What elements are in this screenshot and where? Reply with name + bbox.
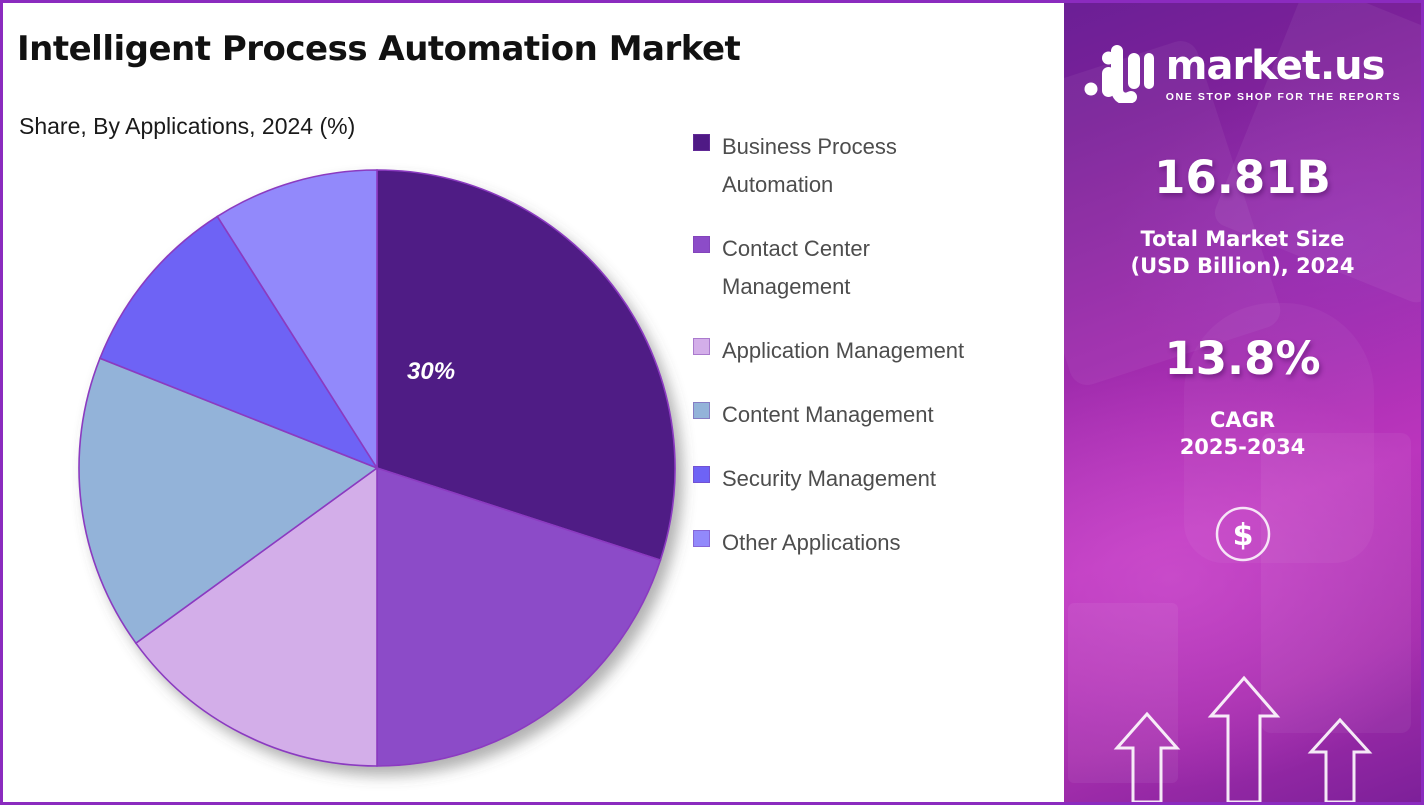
- infographic-root: Intelligent Process Automation Market Sh…: [0, 0, 1424, 805]
- pie-chart-svg: [77, 168, 677, 768]
- market-us-logo-icon: [1084, 45, 1154, 103]
- legend-item-label: Business Process Automation: [722, 128, 952, 204]
- brand-stats-content: market.us ONE STOP SHOP FOR THE REPORTS …: [1064, 3, 1421, 802]
- legend-swatch-icon: [693, 338, 710, 355]
- stat-caption-cagr-line1: CAGR: [1064, 407, 1421, 434]
- chart-legend: Business Process AutomationContact Cente…: [693, 128, 1053, 588]
- up-arrow-icon: [1305, 716, 1375, 802]
- legend-item-label: Content Management: [722, 396, 934, 434]
- legend-swatch-icon: [693, 134, 710, 151]
- brand-stats-panel: market.us ONE STOP SHOP FOR THE REPORTS …: [1064, 0, 1424, 805]
- legend-item[interactable]: Application Management: [693, 332, 1053, 370]
- legend-item-label: Contact Center Management: [722, 230, 952, 306]
- legend-item-label: Application Management: [722, 332, 964, 370]
- brand-name: market.us: [1166, 46, 1401, 86]
- legend-item[interactable]: Contact Center Management: [693, 230, 1053, 306]
- chart-panel: Intelligent Process Automation Market Sh…: [0, 0, 1064, 805]
- stat-caption-cagr-line2: 2025-2034: [1064, 434, 1421, 461]
- legend-swatch-icon: [693, 236, 710, 253]
- chart-subtitle: Share, By Applications, 2024 (%): [19, 113, 355, 140]
- legend-swatch-icon: [693, 402, 710, 419]
- growth-arrows: [1064, 682, 1421, 802]
- legend-item[interactable]: Business Process Automation: [693, 128, 1053, 204]
- stat-caption-cagr: CAGR 2025-2034: [1064, 407, 1421, 461]
- dollar-circle-icon: $: [1064, 505, 1421, 563]
- legend-item[interactable]: Security Management: [693, 460, 1053, 498]
- pie-chart: 30%: [77, 168, 677, 768]
- svg-text:$: $: [1232, 518, 1253, 553]
- legend-item-label: Other Applications: [722, 524, 901, 562]
- stat-caption-market-size-line2: (USD Billion), 2024: [1064, 253, 1421, 280]
- stat-caption-market-size: Total Market Size (USD Billion), 2024: [1064, 226, 1421, 280]
- pie-slice-group: [79, 170, 675, 766]
- brand-logo[interactable]: market.us ONE STOP SHOP FOR THE REPORTS: [1064, 45, 1421, 103]
- legend-swatch-icon: [693, 530, 710, 547]
- page-title: Intelligent Process Automation Market: [17, 29, 740, 69]
- up-arrow-icon: [1111, 710, 1183, 802]
- legend-swatch-icon: [693, 466, 710, 483]
- brand-tagline: ONE STOP SHOP FOR THE REPORTS: [1166, 91, 1401, 103]
- stat-value-market-size: 16.81B: [1064, 151, 1421, 204]
- legend-item[interactable]: Other Applications: [693, 524, 1053, 562]
- stat-value-cagr: 13.8%: [1064, 332, 1421, 385]
- legend-item-label: Security Management: [722, 460, 936, 498]
- stat-caption-market-size-line1: Total Market Size: [1064, 226, 1421, 253]
- legend-item[interactable]: Content Management: [693, 396, 1053, 434]
- up-arrow-icon: [1205, 674, 1283, 802]
